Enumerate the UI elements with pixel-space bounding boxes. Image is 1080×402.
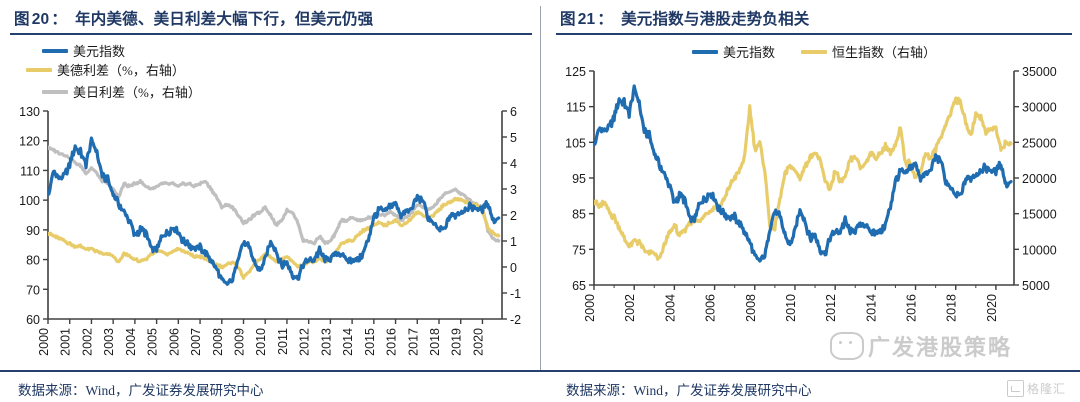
svg-text:65: 65 — [572, 279, 586, 293]
legend-label: 美元指数 — [73, 41, 125, 60]
svg-text:5000: 5000 — [1022, 279, 1050, 293]
legend-item-usd-index: 美元指数 — [692, 42, 775, 61]
svg-text:80: 80 — [26, 254, 40, 268]
figure-20-title-text: 年内美德、美日利差大幅下行，但美元仍强 — [75, 7, 373, 29]
figure-21-svg: 6575859510511512550001000015000200002500… — [554, 63, 1070, 341]
svg-text:2013: 2013 — [319, 328, 333, 356]
glonghui-logo: 格隆汇 — [1007, 380, 1066, 397]
svg-text:6: 6 — [510, 105, 517, 119]
svg-text:2006: 2006 — [167, 328, 181, 356]
svg-text:2010: 2010 — [784, 294, 798, 322]
legend-item-usd-index: 美元指数 — [8, 41, 288, 60]
svg-text:120: 120 — [19, 135, 40, 149]
svg-text:100: 100 — [19, 194, 40, 208]
svg-text:110: 110 — [20, 164, 40, 178]
svg-text:2014: 2014 — [341, 328, 355, 356]
svg-text:2016: 2016 — [905, 294, 919, 322]
svg-text:30000: 30000 — [1022, 101, 1057, 115]
svg-text:90: 90 — [26, 224, 40, 238]
figure-20-legend: 美元指数 美德利差（%，右轴） 美日利差（%，右轴） — [8, 35, 534, 103]
svg-text:25000: 25000 — [1022, 136, 1057, 150]
figure-20-svg: 60708090100110120130-2-10123456200020012… — [8, 103, 536, 375]
svg-text:2000: 2000 — [583, 294, 597, 322]
svg-text:2015: 2015 — [363, 328, 377, 356]
svg-text:2012: 2012 — [298, 328, 312, 356]
svg-text:2012: 2012 — [824, 294, 838, 322]
svg-text:2006: 2006 — [704, 294, 718, 322]
svg-text:2010: 2010 — [254, 328, 268, 356]
svg-text:2000: 2000 — [37, 328, 51, 356]
figure-20-title: 图20：年内美德、美日利差大幅下行，但美元仍强 — [8, 0, 534, 33]
svg-text:5: 5 — [510, 131, 517, 145]
svg-text:2020: 2020 — [985, 294, 999, 322]
svg-text:105: 105 — [565, 136, 586, 150]
figure-21-plot: 6575859510511512550001000015000200002500… — [554, 63, 1074, 341]
svg-text:70: 70 — [26, 283, 40, 297]
legend-item-us-de-spread: 美德利差（%，右轴） — [8, 60, 272, 79]
figure-20-source-text: 数据来源：Wind，广发证券发展研究中心 — [0, 372, 540, 399]
svg-text:2004: 2004 — [124, 328, 138, 356]
figure-21-title-text: 美元指数与港股走势负相关 — [621, 7, 809, 29]
svg-text:75: 75 — [572, 243, 586, 257]
glonghui-logo-text: 格隆汇 — [1027, 380, 1066, 397]
figure-21-label: 图 — [560, 7, 576, 29]
figure-21-legend: 美元指数 恒生指数（右轴） — [554, 35, 1074, 63]
svg-text:2016: 2016 — [385, 328, 399, 356]
svg-text:2018: 2018 — [428, 328, 442, 356]
figure-20-label: 图 — [14, 7, 30, 29]
svg-text:10000: 10000 — [1022, 243, 1057, 257]
svg-text:2008: 2008 — [744, 294, 758, 322]
figure-21-colon: ： — [597, 7, 613, 29]
svg-text:2: 2 — [510, 209, 517, 223]
svg-text:2014: 2014 — [864, 294, 878, 322]
svg-text:2001: 2001 — [59, 328, 73, 356]
svg-text:125: 125 — [565, 65, 586, 79]
svg-text:2011: 2011 — [276, 328, 290, 355]
svg-text:-1: -1 — [510, 287, 521, 301]
legend-label: 美日利差（%，右轴） — [73, 82, 201, 101]
figure-panel-20: 图20：年内美德、美日利差大幅下行，但美元仍强 美元指数 美德利差（%，右轴） … — [0, 0, 540, 402]
svg-text:115: 115 — [566, 101, 586, 115]
legend-swatch-icon — [42, 49, 68, 53]
legend-label: 美德利差（%，右轴） — [57, 60, 185, 79]
figures-board: 图20：年内美德、美日利差大幅下行，但美元仍强 美元指数 美德利差（%，右轴） … — [0, 0, 1080, 402]
glonghui-mark-icon — [1007, 380, 1024, 397]
svg-text:20000: 20000 — [1022, 172, 1057, 186]
svg-text:85: 85 — [572, 208, 586, 222]
svg-text:3: 3 — [510, 183, 517, 197]
svg-text:15000: 15000 — [1022, 208, 1057, 222]
legend-label: 恒生指数（右轴） — [832, 42, 936, 61]
legend-swatch-icon — [692, 50, 718, 54]
svg-text:2002: 2002 — [623, 294, 637, 322]
figure-20-number: 20 — [32, 11, 50, 29]
svg-text:2005: 2005 — [146, 328, 160, 356]
legend-swatch-icon — [42, 90, 68, 94]
svg-text:2007: 2007 — [189, 328, 203, 356]
figure-21-source-text: 数据来源：Wind，广发证券发展研究中心 — [540, 372, 1080, 399]
legend-item-hang-seng-index: 恒生指数（右轴） — [801, 42, 936, 61]
svg-text:2004: 2004 — [663, 294, 677, 322]
svg-text:4: 4 — [510, 157, 517, 171]
svg-text:0: 0 — [510, 261, 517, 275]
svg-text:2019: 2019 — [450, 328, 464, 356]
svg-text:2020: 2020 — [471, 328, 485, 356]
svg-text:1: 1 — [510, 235, 517, 249]
svg-text:2003: 2003 — [102, 328, 116, 356]
svg-text:95: 95 — [572, 172, 586, 186]
svg-text:-2: -2 — [510, 313, 521, 327]
svg-text:35000: 35000 — [1022, 65, 1057, 79]
figure-20-plot: 60708090100110120130-2-10123456200020012… — [8, 103, 534, 375]
svg-text:130: 130 — [19, 105, 40, 119]
svg-text:2008: 2008 — [211, 328, 225, 356]
svg-text:2017: 2017 — [406, 328, 420, 356]
svg-text:2009: 2009 — [233, 328, 247, 356]
figure-20-colon: ： — [51, 7, 67, 29]
legend-swatch-icon — [26, 68, 52, 72]
svg-text:2018: 2018 — [945, 294, 959, 322]
figure-21-title: 图21：美元指数与港股走势负相关 — [554, 0, 1074, 33]
figure-21-number: 21 — [578, 11, 596, 29]
legend-swatch-icon — [801, 50, 827, 54]
legend-item-us-jp-spread: 美日利差（%，右轴） — [8, 82, 288, 101]
svg-text:2002: 2002 — [80, 328, 94, 356]
figure-20-source: 数据来源：Wind，广发证券发展研究中心 — [0, 370, 540, 402]
legend-label: 美元指数 — [723, 42, 775, 61]
svg-text:60: 60 — [26, 313, 40, 327]
figure-panel-21: 图21：美元指数与港股走势负相关 美元指数 恒生指数（右轴） 657585951… — [540, 0, 1080, 402]
figure-21-source: 数据来源：Wind，广发证券发展研究中心 格隆汇 — [540, 370, 1080, 402]
